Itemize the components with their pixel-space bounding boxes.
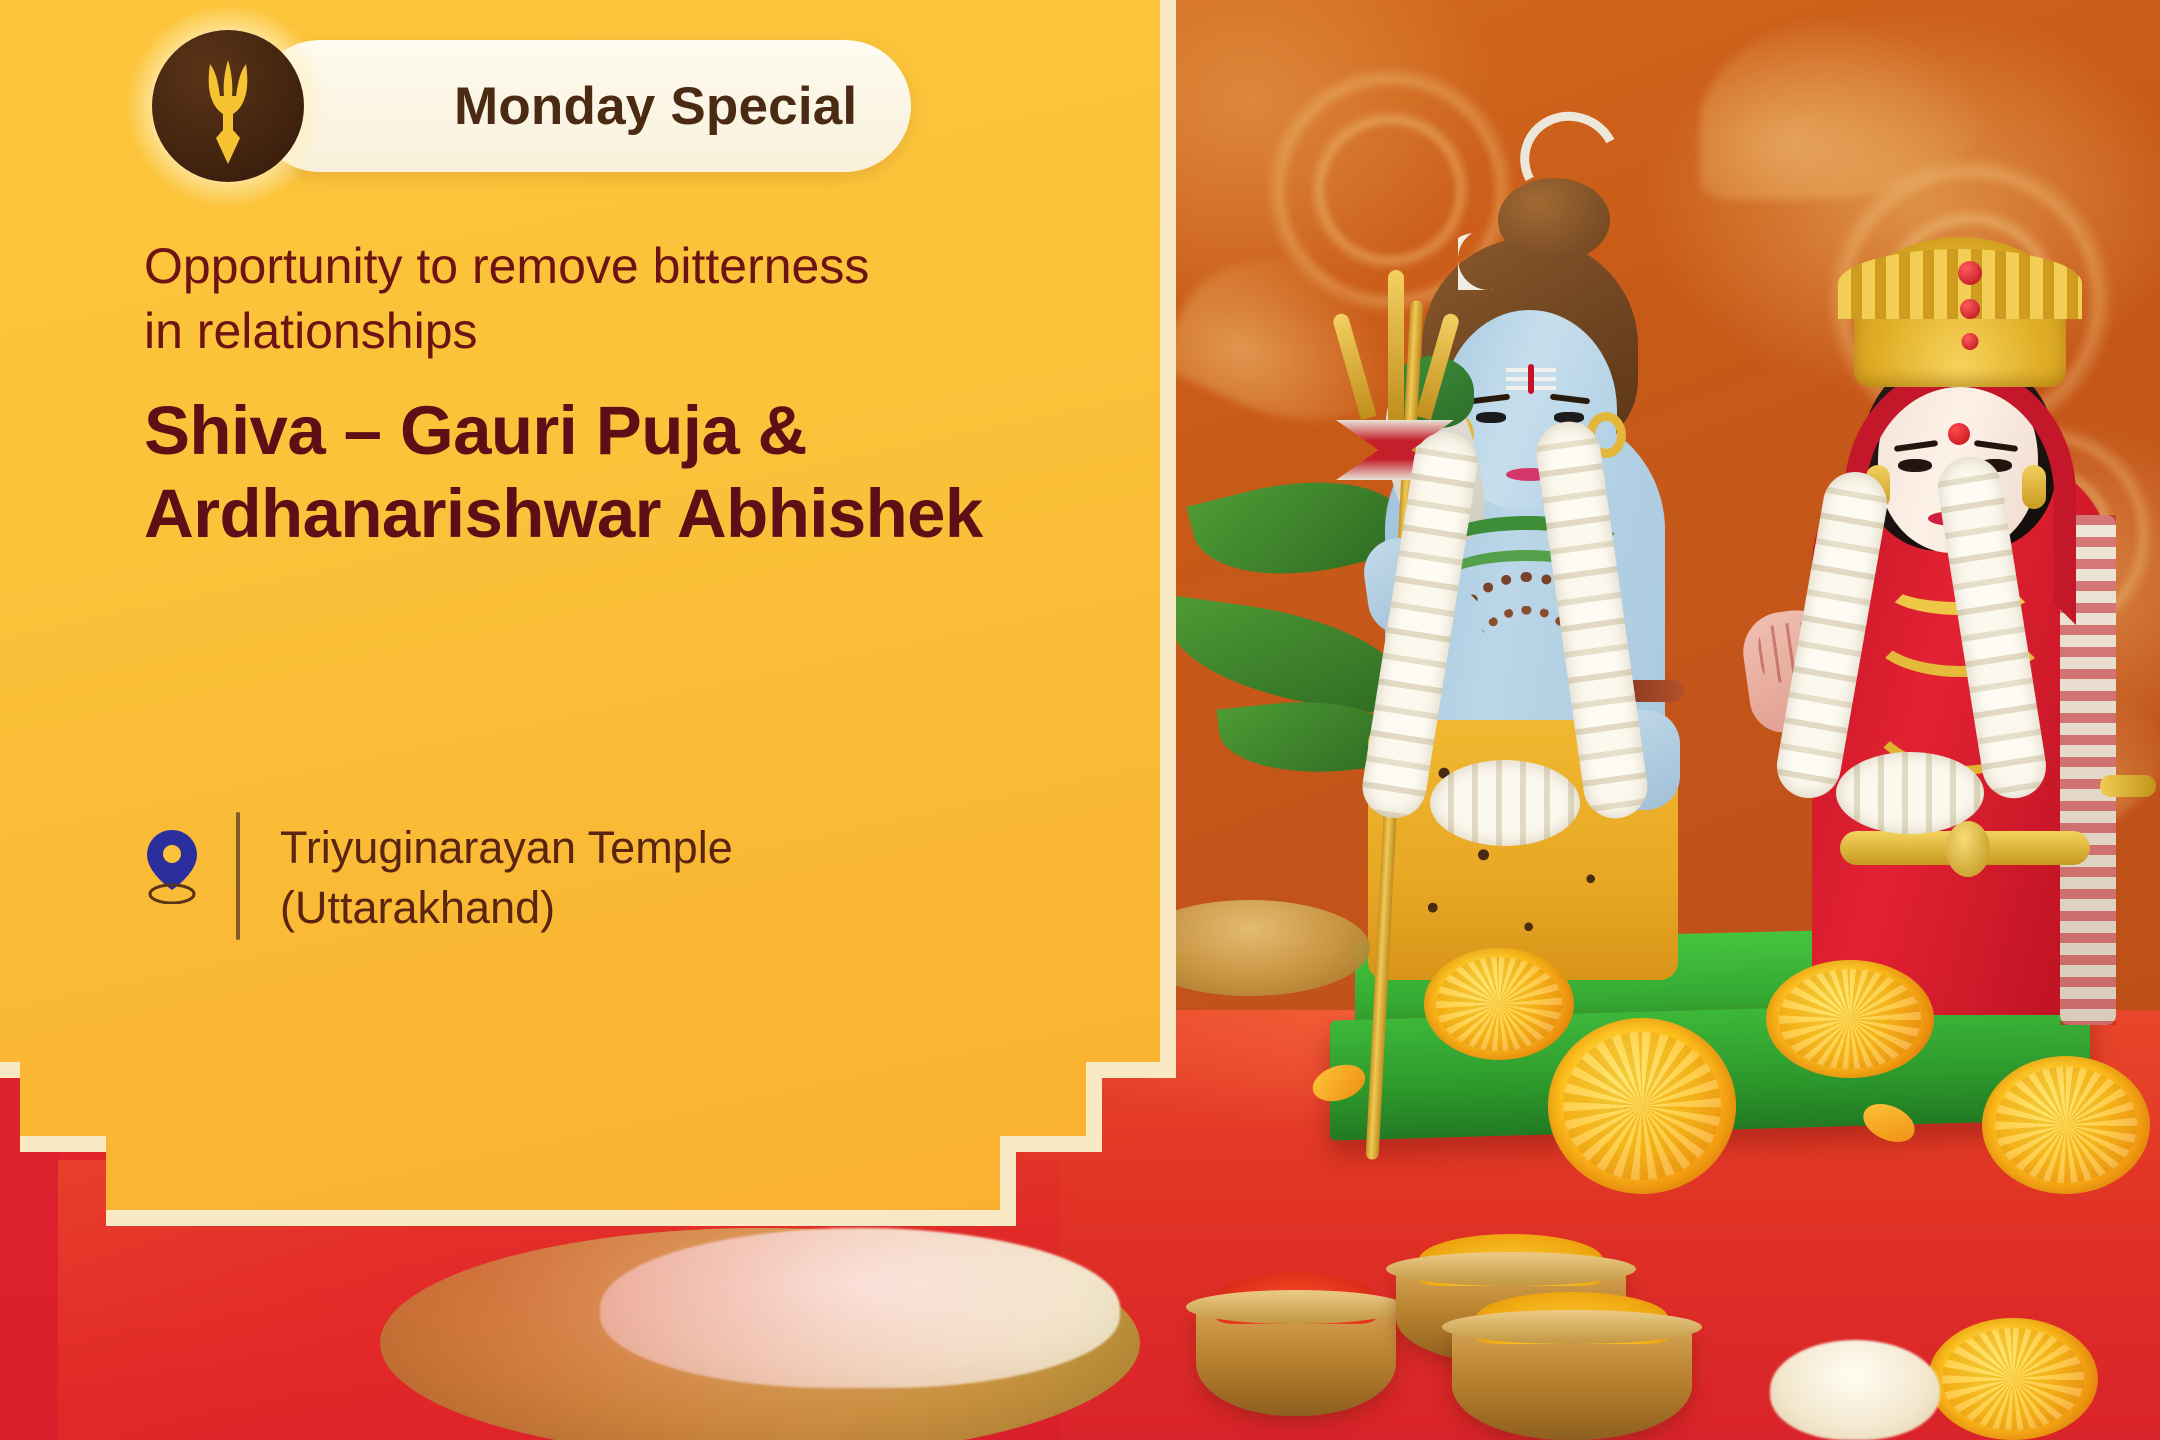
subtitle-text: Opportunity to remove bitterness in rela…	[144, 234, 904, 364]
location-block: Triyuginarayan Temple (Uttarakhand)	[144, 812, 733, 940]
promo-banner: Monday Special Opportunity to remove bit…	[0, 0, 2160, 1440]
badge-pill[interactable]: Monday Special	[254, 40, 911, 172]
kumkum-bowl	[1196, 1306, 1396, 1416]
bindi	[1948, 423, 1970, 445]
card-content: Monday Special Opportunity to remove bit…	[0, 0, 1176, 1226]
location-line-1: Triyuginarayan Temple	[280, 818, 733, 878]
rice-offering	[600, 1228, 1120, 1388]
rice-offering	[1770, 1340, 1940, 1440]
marigold-flower	[1928, 1318, 2098, 1440]
monday-special-badge[interactable]: Monday Special	[144, 22, 1026, 190]
turmeric-bowl	[1452, 1326, 1692, 1440]
map-pin-icon	[144, 828, 200, 904]
marigold-flower	[1548, 1018, 1736, 1194]
trishul-icon	[144, 22, 312, 190]
marigold-flower	[1766, 960, 1934, 1078]
jasmine-garland	[1430, 760, 1580, 846]
marigold-flower	[1982, 1056, 2150, 1194]
badge-label: Monday Special	[454, 76, 857, 137]
marigold-flower	[1424, 948, 1574, 1060]
jasmine-garland	[1836, 752, 1984, 834]
location-text: Triyuginarayan Temple (Uttarakhand)	[280, 812, 733, 938]
info-card: Monday Special Opportunity to remove bit…	[0, 0, 1176, 1226]
page-title: Shiva – Gauri Puja & Ardhanarishwar Abhi…	[144, 390, 1026, 556]
location-line-2: (Uttarakhand)	[280, 878, 733, 938]
trishul-head	[1336, 270, 1456, 420]
location-divider	[236, 812, 240, 940]
